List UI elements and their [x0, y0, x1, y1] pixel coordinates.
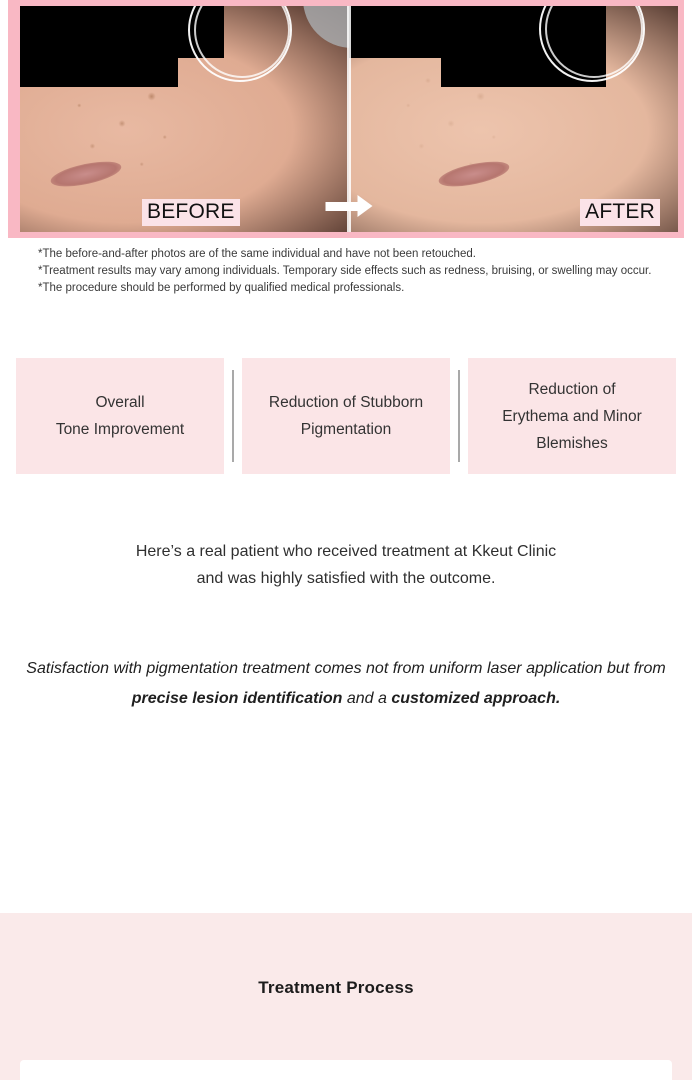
intro-paragraph: Here’s a real patient who received treat… — [46, 538, 646, 592]
benefit-text: Reduction of Stubborn Pigmentation — [269, 389, 423, 443]
emphasis-bold-1: precise lesion identification — [132, 690, 343, 707]
treatment-process-card — [20, 1060, 672, 1080]
before-photo — [20, 6, 349, 232]
before-after-photos: BEFORE AFTER — [20, 6, 678, 232]
arrow-head — [358, 195, 373, 217]
disclaimer-line-3: *The procedure should be performed by qu… — [38, 280, 674, 297]
intro-line-1: Here’s a real patient who received treat… — [46, 538, 646, 565]
disclaimer-block: *The before-and-after photos are of the … — [38, 246, 674, 297]
progress-arrow-icon — [326, 195, 373, 217]
benefit-separator-2 — [450, 358, 468, 474]
promo-page: BEFORE AFTER *The before-and-after photo… — [0, 0, 692, 1080]
benefit-separator-1 — [224, 358, 242, 474]
arrow-shaft — [326, 202, 358, 211]
emphasis-paragraph: Satisfaction with pigmentation treatment… — [24, 654, 668, 714]
disclaimer-line-2: *Treatment results may vary among indivi… — [38, 263, 674, 280]
benefit-line-2: Tone Improvement — [56, 421, 184, 438]
before-after-frame: BEFORE AFTER — [8, 0, 684, 238]
treatment-process-title: Treatment Process — [0, 978, 672, 998]
treatment-process-section: Treatment Process — [0, 913, 692, 1080]
after-photo — [349, 6, 678, 232]
emphasis-part-1: Satisfaction with pigmentation treatment… — [26, 660, 665, 677]
benefit-line-2: Erythema and Minor — [502, 408, 642, 425]
emphasis-bold-2: customized approach. — [391, 690, 560, 707]
disclaimer-line-1: *The before-and-after photos are of the … — [38, 246, 674, 263]
benefit-text: Reduction of Erythema and Minor Blemishe… — [502, 376, 642, 457]
benefit-line-2: Pigmentation — [301, 421, 391, 438]
benefit-line-1: Reduction of — [528, 381, 615, 398]
intro-line-2: and was highly satisfied with the outcom… — [46, 565, 646, 592]
benefit-line-1: Overall — [95, 394, 144, 411]
benefit-line-3: Blemishes — [536, 435, 608, 452]
before-label: BEFORE — [142, 199, 240, 226]
benefit-cards: Overall Tone Improvement Reduction of St… — [16, 358, 676, 474]
privacy-bar-before-lower — [20, 6, 178, 87]
benefit-card-tone-improvement: Overall Tone Improvement — [16, 358, 224, 474]
benefit-card-stubborn-pigmentation: Reduction of Stubborn Pigmentation — [242, 358, 450, 474]
after-label: AFTER — [580, 199, 660, 226]
emphasis-part-2: and a — [342, 690, 391, 707]
benefit-line-1: Reduction of Stubborn — [269, 394, 423, 411]
benefit-card-erythema-blemishes: Reduction of Erythema and Minor Blemishe… — [468, 358, 676, 474]
benefit-text: Overall Tone Improvement — [56, 389, 184, 443]
